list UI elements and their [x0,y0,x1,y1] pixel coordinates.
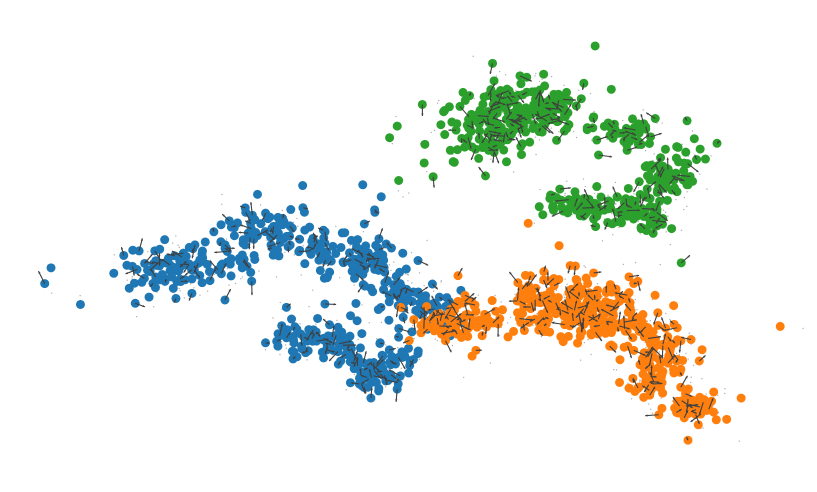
figure-canvas: DSNE on exact embeddings with accuracy 0… [0,0,817,492]
plot-axes-area [0,0,817,492]
scatter-plot [0,0,817,492]
